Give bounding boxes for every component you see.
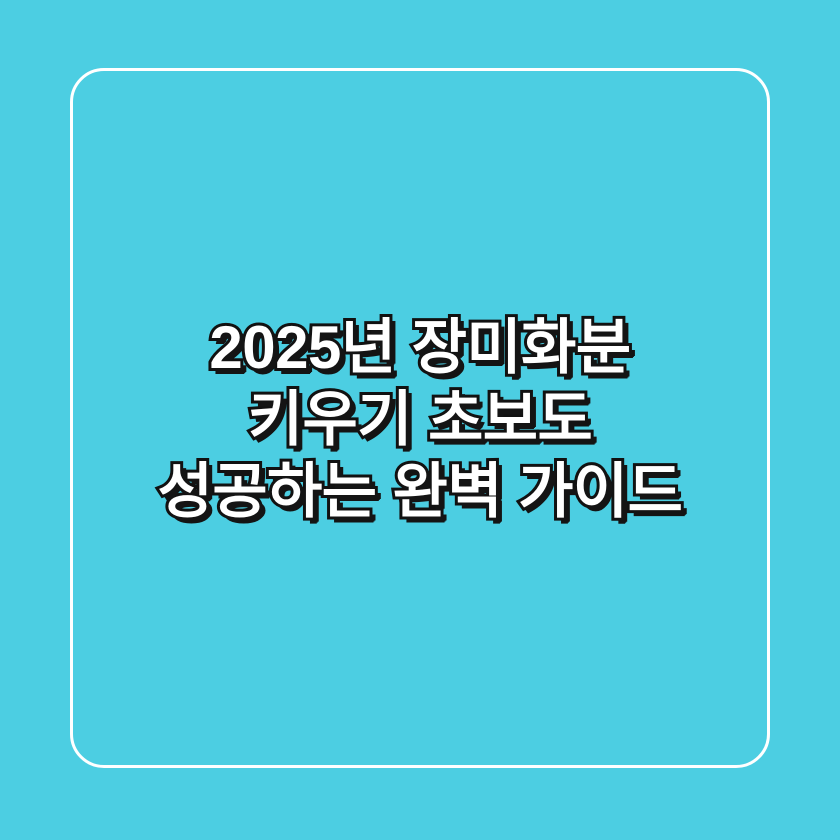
title-line-3: 성공하는 완벽 가이드 (158, 456, 683, 528)
title-block: 2025년 장미화분 키우기 초보도 성공하는 완벽 가이드 (0, 0, 840, 840)
title-line-1: 2025년 장미화분 (209, 312, 630, 384)
title-line-2: 키우기 초보도 (248, 384, 592, 456)
poster-canvas: 2025년 장미화분 키우기 초보도 성공하는 완벽 가이드 (0, 0, 840, 840)
